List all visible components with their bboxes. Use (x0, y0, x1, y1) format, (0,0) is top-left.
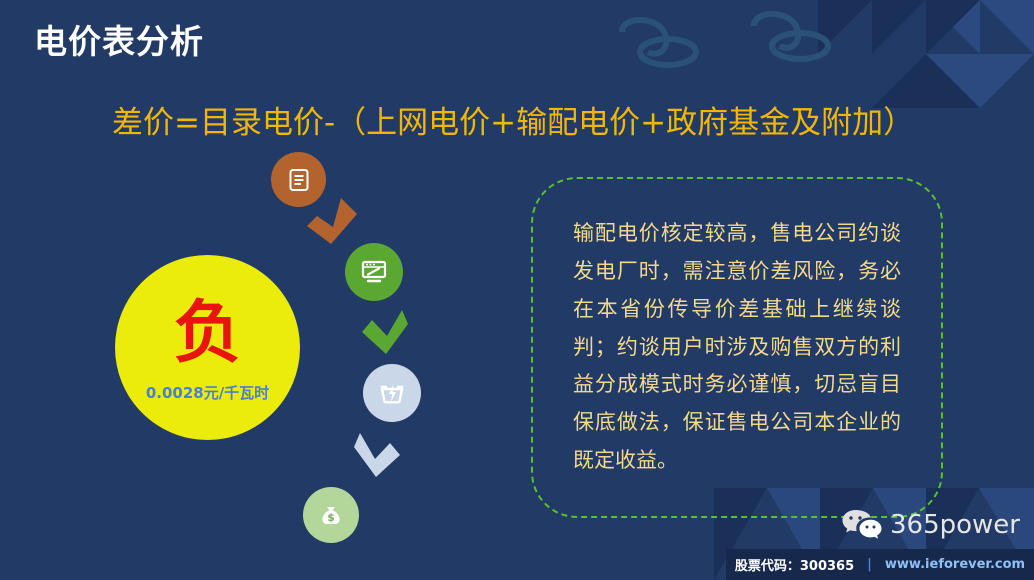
money-bag-icon: $ (318, 502, 344, 528)
brand-name: 365power (890, 510, 1020, 540)
negative-value: 0.0028元/千瓦时 (146, 382, 269, 403)
svg-text:$: $ (327, 512, 334, 524)
flow-step-basket[interactable] (363, 364, 421, 422)
basket-bolt-icon (376, 377, 408, 409)
negative-price-circle: 负 0.0028元/千瓦时 (115, 255, 300, 440)
stock-code: 股票代码：300365 (735, 555, 854, 574)
footer-separator: | (867, 557, 872, 572)
callout-box: 输配电价核定较高，售电公司约谈发电厂时，需注意价差风险，务必在本省份传导价差基础… (531, 177, 943, 518)
flow-arrow-1 (305, 196, 361, 254)
website-link[interactable]: www.ieforever.com (885, 557, 1025, 572)
document-list-icon (286, 167, 312, 193)
callout-text: 输配电价核定较高，售电公司约谈发电厂时，需注意价差风险，务必在本省份传导价差基础… (573, 215, 901, 480)
page-title: 电价表分析 (34, 22, 204, 62)
decor-triangles-top-right (818, 0, 1034, 108)
formula-text: 差价=目录电价-（上网电价+输配电价+政府基金及附加） (112, 97, 914, 142)
negative-label: 负 (173, 300, 241, 368)
flow-step-money[interactable]: $ (303, 487, 359, 543)
brand: 365power (841, 508, 1020, 542)
monitor-chart-icon (359, 257, 389, 287)
flow-arrow-2 (358, 308, 410, 362)
footer-bar: 股票代码：300365 | www.ieforever.com (726, 549, 1034, 580)
slide-canvas: 电价表分析 差价=目录电价-（上网电价+输配电价+政府基金及附加） 负 0.00… (0, 0, 1034, 580)
decor-rings-icon (612, 8, 852, 74)
flow-arrow-3 (352, 429, 404, 483)
wechat-icon (841, 508, 883, 542)
